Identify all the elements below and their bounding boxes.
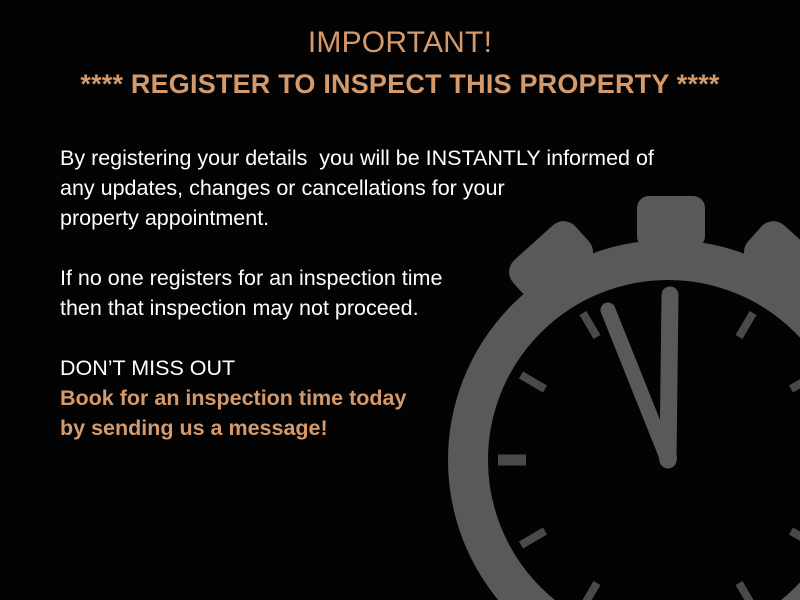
cta-send-message: by sending us a message!: [60, 413, 720, 443]
paragraph1-line3: property appointment.: [60, 203, 720, 233]
paragraph2-line2: then that inspection may not proceed.: [60, 293, 720, 323]
cta-book-inspection: Book for an inspection time today: [60, 383, 720, 413]
paragraph1-line2: any updates, changes or cancellations fo…: [60, 173, 720, 203]
body-copy-block: By registering your details you will be …: [60, 143, 720, 443]
heading-important: IMPORTANT!: [0, 26, 800, 61]
cta-dont-miss-out: DON’T MISS OUT: [60, 353, 720, 383]
paragraph1-line1: By registering your details you will be …: [60, 143, 720, 173]
heading-block: IMPORTANT! **** REGISTER TO INSPECT THIS…: [0, 26, 800, 102]
heading-register-to-inspect: **** REGISTER TO INSPECT THIS PROPERTY *…: [0, 67, 800, 102]
paragraph2-line1: If no one registers for an inspection ti…: [60, 263, 720, 293]
slide-canvas: IMPORTANT! **** REGISTER TO INSPECT THIS…: [0, 0, 800, 600]
